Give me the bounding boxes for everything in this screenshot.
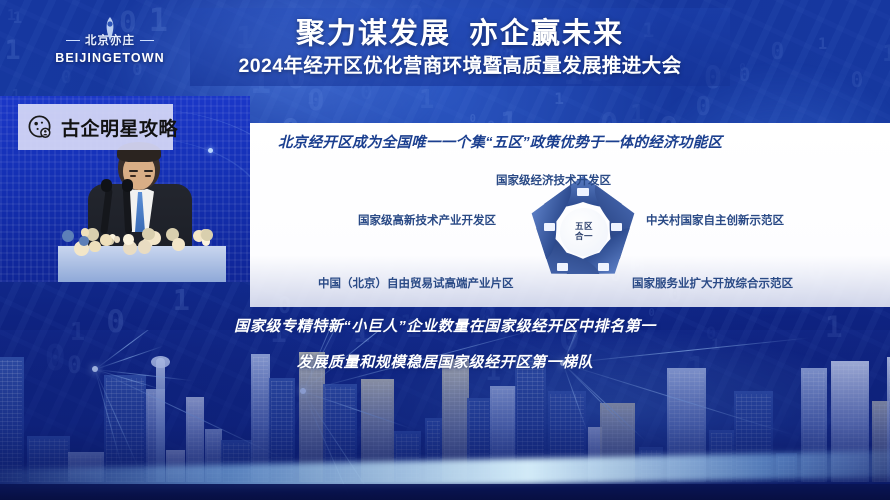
event-title-sub: 2024年经开区优化营商环境暨高质量发展推进大会 xyxy=(150,57,770,77)
binary-digit: 0 xyxy=(851,68,864,92)
flower-blossom xyxy=(142,228,154,240)
event-title-right: 亦企赢未来 xyxy=(469,18,624,50)
event-title-main: 聚力谋发展亦企赢未来 xyxy=(190,20,730,49)
binary-digit: 1 xyxy=(13,8,23,27)
binary-digit: 1 xyxy=(5,35,21,66)
flower-blossom xyxy=(172,238,185,251)
logo-rule-right xyxy=(140,40,154,41)
binary-digit: 1 xyxy=(554,89,564,108)
binary-digit: 0 xyxy=(119,5,137,39)
diagram-label-top: 国家级经济技术开发区 xyxy=(496,172,611,188)
binary-digit: 1 xyxy=(149,1,168,39)
speaker-eye-left xyxy=(130,175,136,177)
speaker-eye-right xyxy=(145,175,151,177)
flower-blossom xyxy=(201,229,213,241)
flower-blossom xyxy=(123,234,133,244)
diagram-center-badge: 五区 合一 xyxy=(560,208,608,256)
logo-chinese-name: 北京亦庄 xyxy=(52,32,168,48)
binary-digit: 0 xyxy=(132,60,142,80)
highlight-line-1: 国家级专精特新“小巨人”企业数量在国家级经开区中排名第一 xyxy=(0,315,890,336)
five-zones-diagram: 五区 合一 国家级经济技术开发区 国家级高新技术产业开发区 中关村国家自主创新示… xyxy=(250,150,890,310)
microphone-head-left xyxy=(101,179,112,192)
podium-flowers xyxy=(62,226,222,254)
binary-digit: 1 xyxy=(818,35,827,53)
binary-digit: 1 xyxy=(173,284,190,317)
flower-blossom xyxy=(138,240,152,254)
binary-digit: 1 xyxy=(307,89,317,108)
binary-digit: 0 xyxy=(770,39,784,65)
binary-digit: 1 xyxy=(882,41,890,67)
highlight-line-2: 发展质量和规模稳居国家级经开区第一梯队 xyxy=(0,351,890,372)
diagram-label-bottom-left: 中国（北京）自由贸易试高端产业片区 xyxy=(318,275,514,291)
diagram-label-bottom-right: 国家服务业扩大开放综合示范区 xyxy=(632,275,793,291)
flower-blossom xyxy=(62,230,74,242)
channel-avatar-icon xyxy=(27,114,54,141)
center-line-2: 合一 xyxy=(575,232,593,242)
diagram-label-left: 国家级高新技术产业开发区 xyxy=(358,212,496,228)
speaker-brow-left xyxy=(129,170,138,172)
binary-digit: 0 xyxy=(695,92,711,122)
binary-digit: 0 xyxy=(61,67,72,88)
broadcast-screen: 0100001001101111100100000000010110110011… xyxy=(0,0,890,500)
binary-digit: 0 xyxy=(360,80,372,104)
event-title-left: 聚力谋发展 xyxy=(296,18,451,50)
flower-blossom xyxy=(100,234,112,246)
microphone-head-right xyxy=(122,179,133,192)
diagram-label-right: 中关村国家自主创新示范区 xyxy=(646,212,784,228)
speaker-brow-right xyxy=(144,170,153,172)
channel-watermark-label: 古企明星攻略 xyxy=(61,114,178,141)
logo-rule-left xyxy=(66,40,80,41)
flower-blossom xyxy=(89,241,100,252)
binary-digit: 1 xyxy=(7,7,16,24)
logo-cn-text: 北京亦庄 xyxy=(85,32,135,48)
ground-shadow xyxy=(0,484,890,500)
binary-digit: 1 xyxy=(419,85,434,115)
binary-digit: 0 xyxy=(307,83,324,117)
flower-blossom xyxy=(114,236,120,242)
logo-mark-icon xyxy=(99,16,121,42)
slide-heading: 北京经开区成为全国唯一一个集“五区”政策优势于一体的经济功能区 xyxy=(250,131,890,152)
backdrop-glow-dot xyxy=(208,148,213,153)
channel-watermark-badge: 古企明星攻略 xyxy=(18,104,173,150)
